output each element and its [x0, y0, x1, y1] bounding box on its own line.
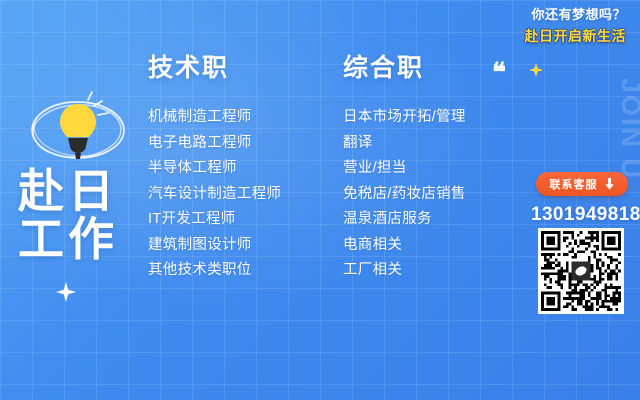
list-item[interactable]: 其他技术类职位 — [148, 258, 281, 284]
column-technical: 技术职 机械制造工程师 电子电路工程师 半导体工程师 汽车设计制造工程师 IT开… — [148, 56, 281, 284]
list-item[interactable]: 温泉酒店服务 — [343, 207, 466, 233]
list-item[interactable]: 翻译 — [343, 131, 466, 157]
page-title-line1: 赴日 — [18, 168, 118, 216]
contact-support-button[interactable]: 联系客服 — [536, 172, 628, 196]
job-list-general: 日本市场开拓/管理 翻译 营业/担当 免税店/药妆店销售 温泉酒店服务 电商相关… — [343, 105, 466, 284]
column-heading-technical: 技术职 — [148, 56, 281, 81]
phone-number[interactable]: 13019498186 — [531, 204, 640, 226]
page-title: 赴日 工作 — [18, 168, 118, 264]
list-item[interactable]: IT开发工程师 — [148, 207, 281, 233]
list-item[interactable]: 营业/担当 — [343, 156, 466, 182]
list-item[interactable]: 电商相关 — [343, 233, 466, 259]
lightbulb-icon — [22, 84, 134, 176]
job-list-technical: 机械制造工程师 电子电路工程师 半导体工程师 汽车设计制造工程师 IT开发工程师… — [148, 105, 281, 284]
sparkle-icon — [56, 282, 76, 302]
list-item[interactable]: 建筑制图设计师 — [148, 233, 281, 259]
list-item[interactable]: 机械制造工程师 — [148, 105, 281, 131]
list-item[interactable]: 汽车设计制造工程师 — [148, 182, 281, 208]
contact-support-label: 联系客服 — [550, 176, 598, 192]
qr-code-image — [541, 231, 621, 311]
page-title-line2: 工作 — [18, 216, 118, 264]
list-item[interactable]: 工厂相关 — [343, 258, 466, 284]
headline-block: 你还有梦想吗？ 赴日开启新生活 — [525, 6, 627, 47]
lightbulb-badge — [22, 84, 134, 176]
qr-code[interactable] — [538, 228, 624, 314]
list-item[interactable]: 日本市场开拓/管理 — [343, 105, 466, 131]
join-us-watermark: JOIN U — [617, 78, 640, 180]
headline-question: 你还有梦想吗？ — [525, 6, 627, 25]
quote-mark-icon: ❝ — [492, 60, 506, 86]
sparkle-icon — [529, 63, 543, 77]
arrow-down-icon — [604, 178, 615, 190]
list-item[interactable]: 半导体工程师 — [148, 156, 281, 182]
poster-root: JOIN U 你还有梦想吗？ 赴日开启新生活 ❝ — [0, 0, 640, 400]
headline-slogan: 赴日开启新生活 — [525, 25, 627, 47]
list-item[interactable]: 免税店/药妆店销售 — [343, 182, 466, 208]
list-item[interactable]: 电子电路工程师 — [148, 131, 281, 157]
column-general: 综合职 日本市场开拓/管理 翻译 营业/担当 免税店/药妆店销售 温泉酒店服务 … — [343, 56, 466, 284]
column-heading-general: 综合职 — [343, 56, 466, 81]
